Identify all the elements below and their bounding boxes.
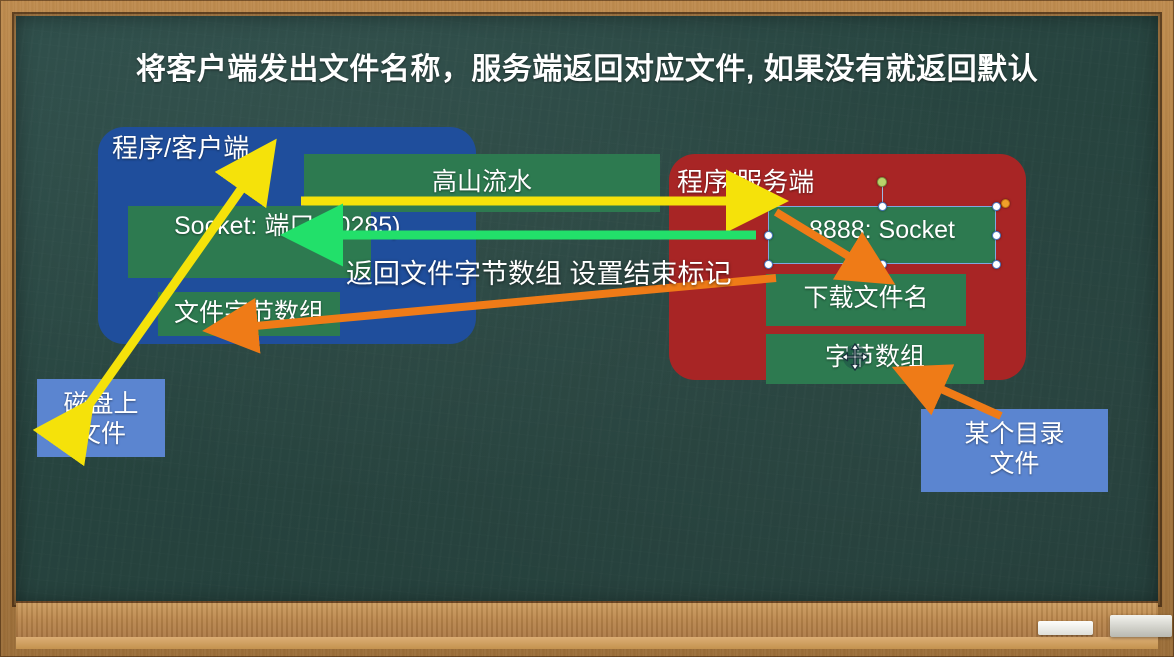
chalk-ledge bbox=[16, 601, 1158, 641]
chalk-ledge-lip bbox=[16, 637, 1158, 649]
chalk-stick-icon[interactable] bbox=[1038, 621, 1093, 635]
board-eraser-icon[interactable] bbox=[1110, 615, 1172, 637]
board-inner-shadow bbox=[14, 14, 1160, 605]
slide-stage: 将客户端发出文件名称，服务端返回对应文件, 如果没有就返回默认 程序/客户端 高… bbox=[0, 0, 1174, 657]
